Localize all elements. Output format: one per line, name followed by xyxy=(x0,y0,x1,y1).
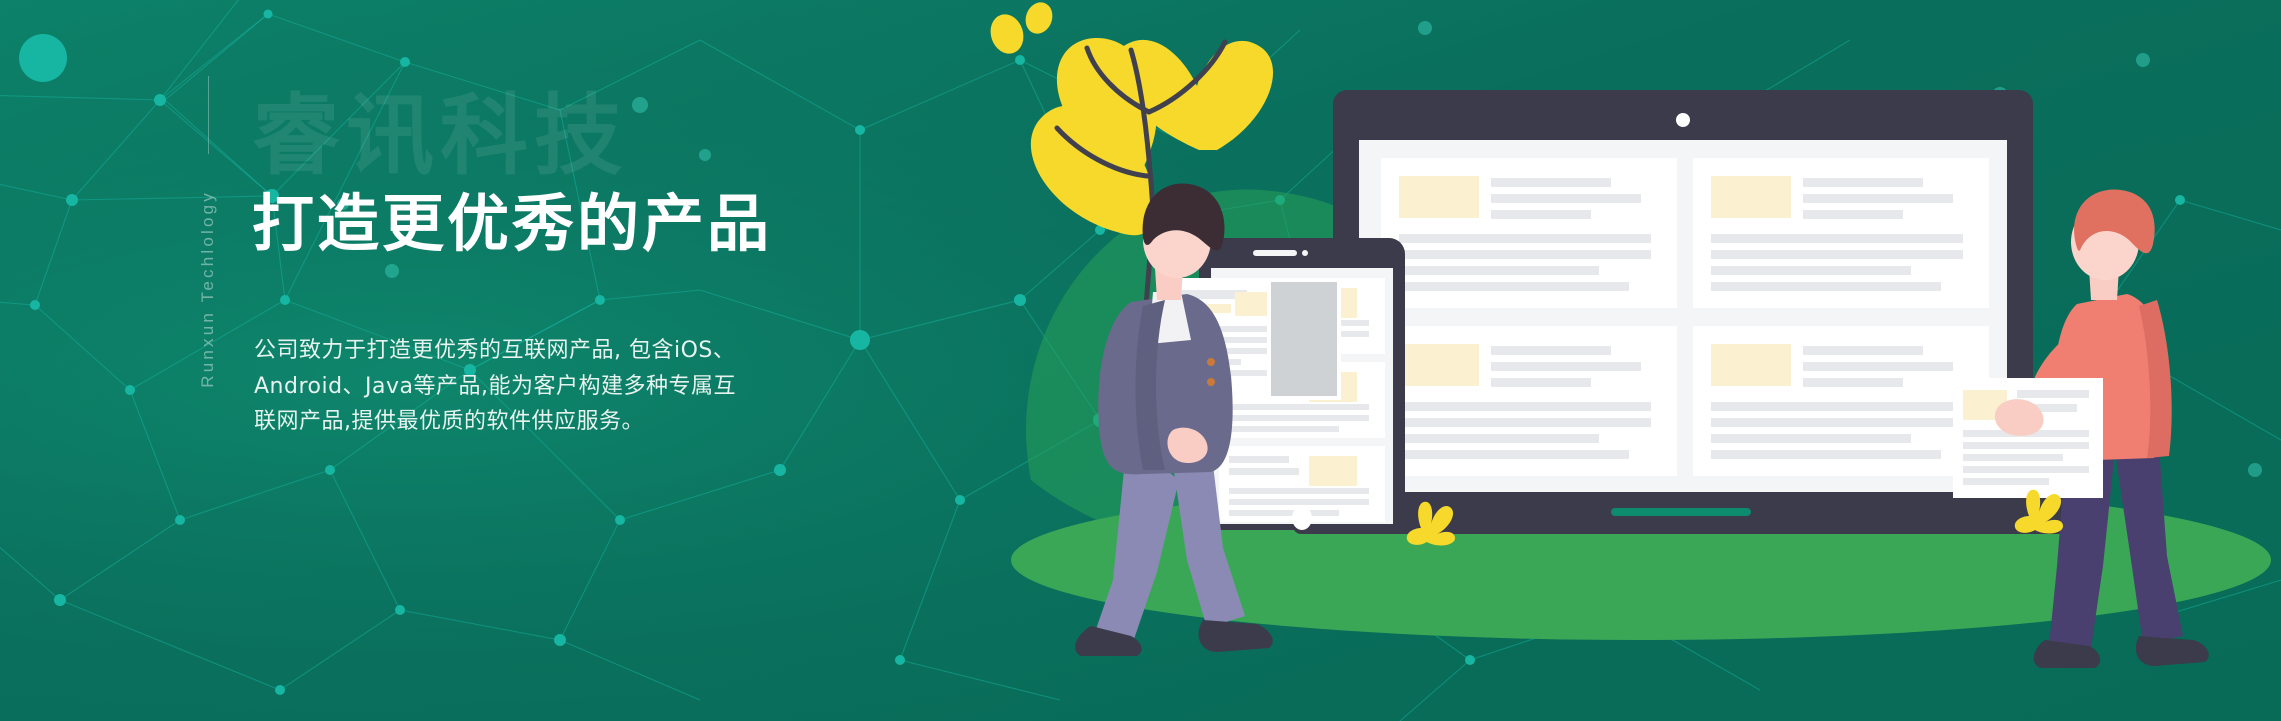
hero-description-line-1: 公司致力于打造更优秀的互联网产品, 包含iOS、 xyxy=(254,333,814,369)
hero-description-line-3: 联网产品,提供最优质的软件供应服务。 xyxy=(254,404,814,440)
vertical-brand-text: Runxun Techlology xyxy=(198,190,218,388)
hero-description-line-2: Android、Java等产品,能为客户构建多种专属互 xyxy=(254,369,814,405)
page-title: 打造更优秀的产品 xyxy=(252,187,772,260)
vertical-rule xyxy=(208,76,209,154)
people-with-devices-illustration xyxy=(881,0,2281,721)
vertical-brand-label: Runxun Techlology xyxy=(188,128,228,388)
hero-description: 公司致力于打造更优秀的互联网产品, 包含iOS、 Android、Java等产品… xyxy=(254,333,814,440)
watermark-company-name: 睿讯科技 xyxy=(252,92,628,180)
hero-banner: 睿讯科技 Runxun Techlology 打造更优秀的产品 公司致力于打造更… xyxy=(0,0,2281,721)
